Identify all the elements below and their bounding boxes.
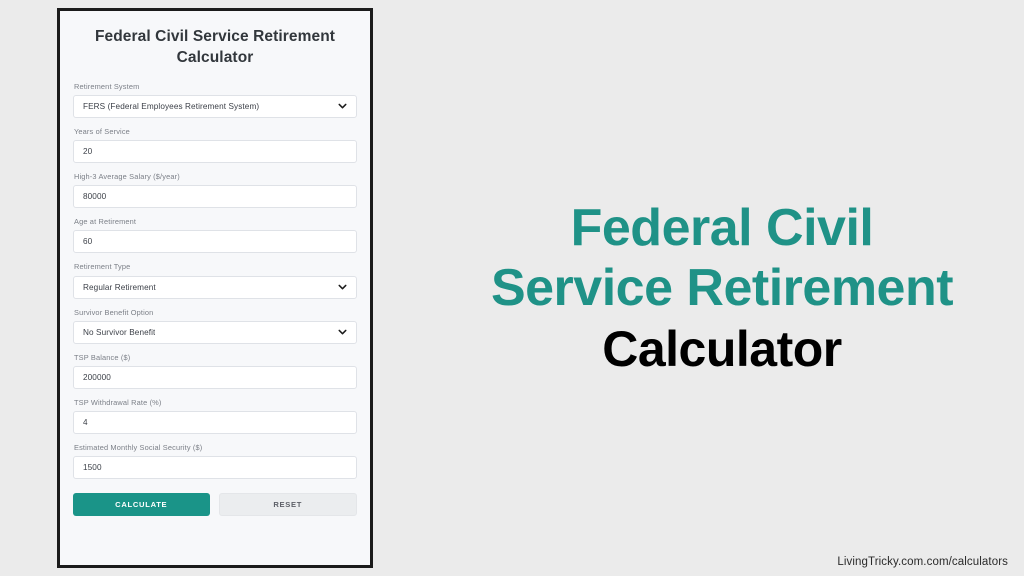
label-estimated-monthly-social-security: Estimated Monthly Social Security ($) (74, 444, 357, 452)
chevron-down-icon (338, 328, 347, 337)
field-group-retirement-system: Retirement System FERS (Federal Employee… (73, 83, 357, 118)
field-group-years-of-service: Years of Service 20 (73, 128, 357, 163)
field-group-tsp-withdrawal-rate: TSP Withdrawal Rate (%) 4 (73, 399, 357, 434)
input-age-at-retirement-value: 60 (74, 237, 92, 246)
input-estimated-monthly-social-security-value: 1500 (74, 463, 102, 472)
label-tsp-withdrawal-rate: TSP Withdrawal Rate (%) (74, 399, 357, 407)
select-retirement-system-value: FERS (Federal Employees Retirement Syste… (74, 102, 259, 111)
label-retirement-system: Retirement System (74, 83, 357, 91)
hero-line-2: Service Retirement (491, 258, 953, 318)
hero-line-1: Federal Civil (571, 198, 874, 258)
label-retirement-type: Retirement Type (74, 263, 357, 271)
select-survivor-benefit-option-value: No Survivor Benefit (74, 328, 155, 337)
card-title: Federal Civil Service Retirement Calcula… (78, 27, 352, 69)
calculator-card: Federal Civil Service Retirement Calcula… (57, 8, 373, 568)
hero-line-3: Calculator (602, 320, 842, 378)
select-retirement-system[interactable]: FERS (Federal Employees Retirement Syste… (73, 95, 357, 118)
label-survivor-benefit-option: Survivor Benefit Option (74, 309, 357, 317)
chevron-down-icon (338, 102, 347, 111)
label-age-at-retirement: Age at Retirement (74, 218, 357, 226)
input-tsp-balance[interactable]: 200000 (73, 366, 357, 389)
input-high3-average-salary[interactable]: 80000 (73, 185, 357, 208)
label-years-of-service: Years of Service (74, 128, 357, 136)
field-group-high3-average-salary: High-3 Average Salary ($/year) 80000 (73, 173, 357, 208)
calculator-form: Retirement System FERS (Federal Employee… (73, 83, 357, 479)
select-survivor-benefit-option[interactable]: No Survivor Benefit (73, 321, 357, 344)
calculate-button[interactable]: CALCULATE (73, 493, 210, 516)
select-retirement-type-value: Regular Retirement (74, 283, 156, 292)
field-group-age-at-retirement: Age at Retirement 60 (73, 218, 357, 253)
input-years-of-service-value: 20 (74, 147, 92, 156)
button-row: CALCULATE RESET (73, 493, 357, 516)
input-tsp-balance-value: 200000 (74, 373, 111, 382)
hero-heading: Federal Civil Service Retirement Calcula… (420, 0, 1024, 576)
reset-button[interactable]: RESET (219, 493, 358, 516)
field-group-estimated-monthly-social-security: Estimated Monthly Social Security ($) 15… (73, 444, 357, 479)
input-years-of-service[interactable]: 20 (73, 140, 357, 163)
footer-url: LivingTricky.com.com/calculators (837, 556, 1008, 568)
chevron-down-icon (338, 283, 347, 292)
input-high3-average-salary-value: 80000 (74, 192, 106, 201)
field-group-tsp-balance: TSP Balance ($) 200000 (73, 354, 357, 389)
input-tsp-withdrawal-rate[interactable]: 4 (73, 411, 357, 434)
input-age-at-retirement[interactable]: 60 (73, 230, 357, 253)
field-group-survivor-benefit-option: Survivor Benefit Option No Survivor Bene… (73, 309, 357, 344)
label-tsp-balance: TSP Balance ($) (74, 354, 357, 362)
label-high3-average-salary: High-3 Average Salary ($/year) (74, 173, 357, 181)
input-tsp-withdrawal-rate-value: 4 (74, 418, 88, 427)
input-estimated-monthly-social-security[interactable]: 1500 (73, 456, 357, 479)
select-retirement-type[interactable]: Regular Retirement (73, 276, 357, 299)
field-group-retirement-type: Retirement Type Regular Retirement (73, 263, 357, 298)
